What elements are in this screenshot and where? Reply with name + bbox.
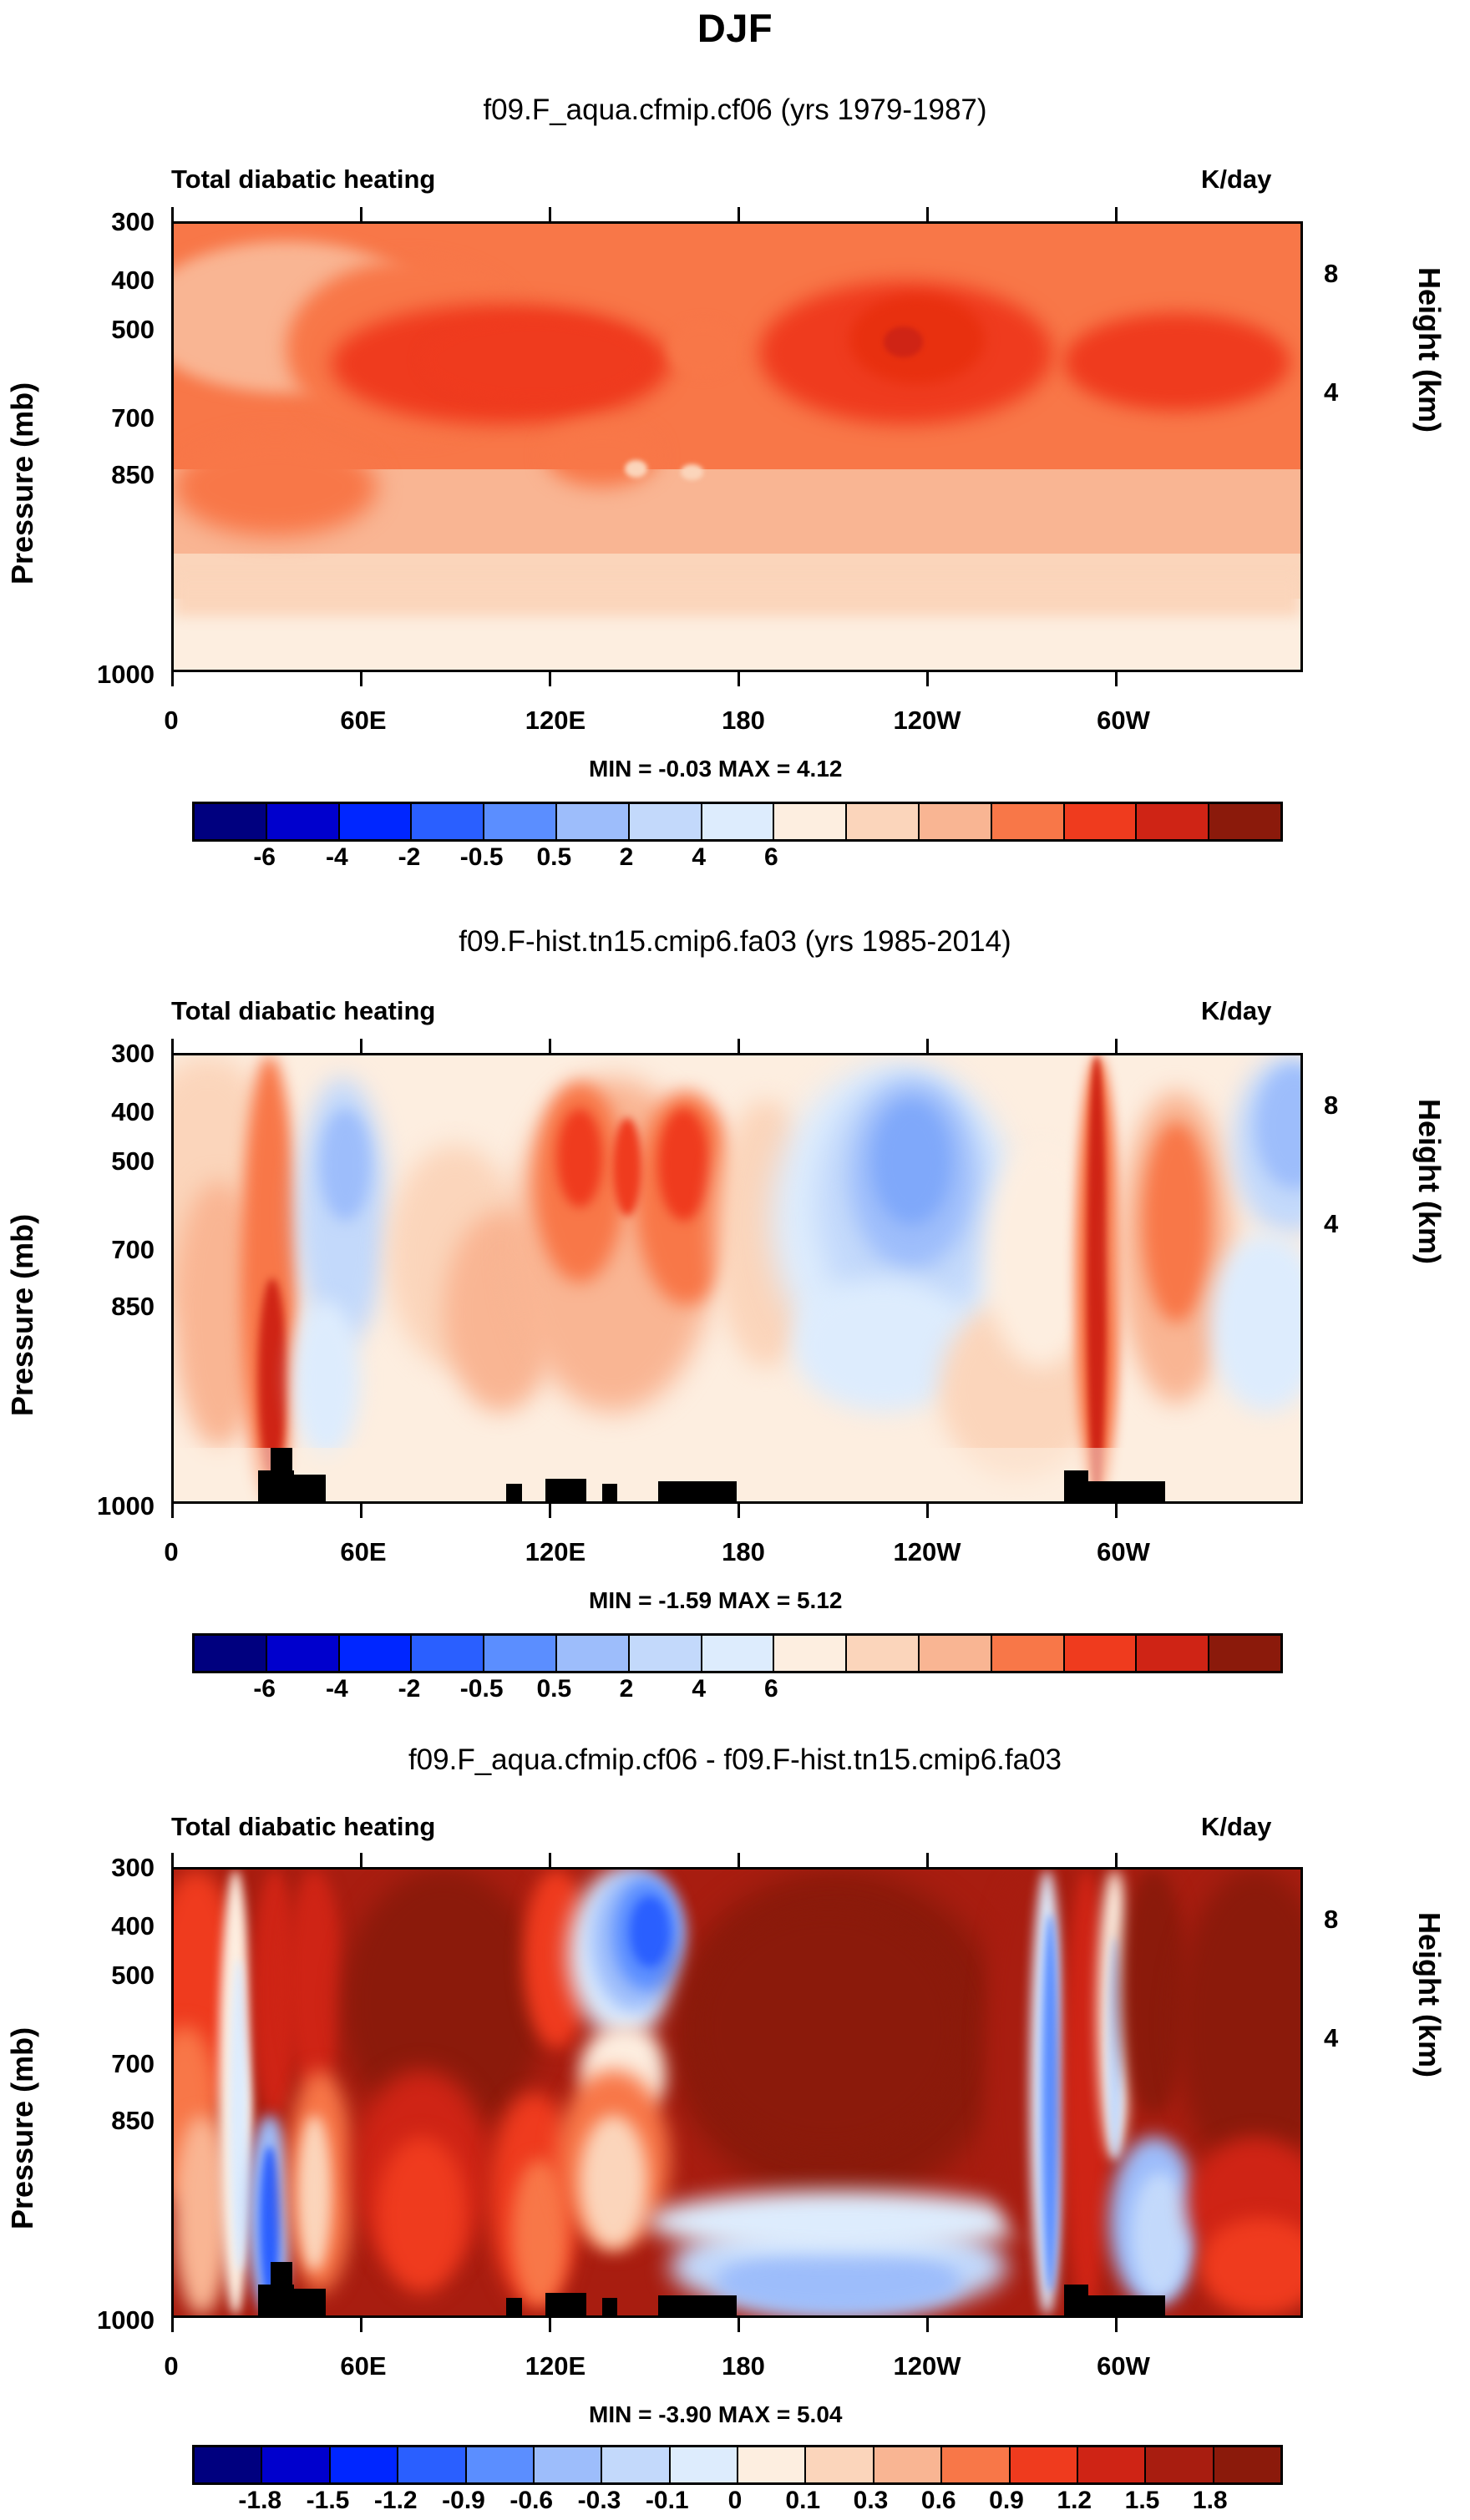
panel-2-plot-area[interactable]: [171, 1053, 1303, 1504]
colorbar-tick-label: 0.9: [989, 2487, 1024, 2515]
panel-1-xtick-120E: 120E: [505, 706, 606, 736]
panel-3-ylabel-right: Height (km): [1412, 1912, 1447, 2213]
panel-3-xtick-120W: 120W: [877, 2351, 977, 2381]
panel-2-ylabel-right: Height (km): [1412, 1099, 1447, 1399]
panel-2: f09.F-hist.tn15.cmip6.fa03 (yrs 1985-201…: [0, 852, 1470, 1720]
panel-2-ytick-400: 400: [50, 1097, 155, 1127]
colorbar-tick-label: 4: [692, 1675, 706, 1703]
panel-3-ytick-right-4: 4: [1324, 2023, 1338, 2053]
colorbar-tick-label: -0.5: [460, 1675, 504, 1703]
panel-3-ylabel-left: Pressure (mb): [5, 1912, 40, 2229]
colorbar-cell: [1209, 1636, 1280, 1671]
colorbar-cell: [467, 2447, 535, 2482]
panel-1-ytick-right-8: 8: [1324, 259, 1338, 289]
colorbar-cell: [195, 2447, 262, 2482]
colorbar-cell: [1137, 1636, 1209, 1671]
colorbar-cell: [557, 804, 630, 839]
colorbar-cell: [412, 1636, 484, 1671]
colorbar-cell: [267, 804, 340, 839]
panel-1-contour-field: [174, 224, 1300, 670]
colorbar-cell: [1078, 2447, 1146, 2482]
colorbar-cell: [920, 1636, 992, 1671]
colorbar-cell: [340, 804, 413, 839]
panel-1-ytick-700: 700: [50, 403, 155, 433]
colorbar-tick-label: 0.3: [854, 2487, 889, 2515]
panel-2-xtick-60E: 60E: [322, 1537, 405, 1567]
panel-2-ytick-700: 700: [50, 1235, 155, 1265]
colorbar-tick-label: 0.1: [785, 2487, 820, 2515]
panel-3-ytick-400: 400: [50, 1911, 155, 1941]
colorbar-cell: [557, 1636, 630, 1671]
panel-2-ytick-right-4: 4: [1324, 1209, 1338, 1239]
panel-1-xtick-60W: 60W: [1077, 706, 1169, 736]
colorbar-tick-label: 0.5: [536, 1675, 571, 1703]
panel-1: f09.F_aqua.cfmip.cf06 (yrs 1979-1987) To…: [0, 0, 1470, 868]
panel-1-ylabel-left: Pressure (mb): [5, 267, 40, 584]
panel-3-ytick-1000: 1000: [38, 2305, 155, 2335]
panel-2-xtick-0: 0: [138, 1537, 205, 1567]
colorbar-cell: [1011, 2447, 1078, 2482]
colorbar-cell: [806, 2447, 874, 2482]
panel-3-ytick-850: 850: [50, 2106, 155, 2136]
colorbar-tick-label: -1.8: [238, 2487, 281, 2515]
panel-2-label-right: K/day: [1201, 996, 1271, 1026]
colorbar-cell: [992, 804, 1065, 839]
colorbar-cell: [992, 1636, 1065, 1671]
panel-2-minmax: MIN = -1.59 MAX = 5.12: [589, 1587, 842, 1614]
colorbar-cell: [942, 2447, 1010, 2482]
panel-1-xtick-120W: 120W: [877, 706, 977, 736]
colorbar-panel-3[interactable]: [192, 2445, 1283, 2485]
colorbar-tick-label: -1.5: [307, 2487, 350, 2515]
panel-1-minmax: MIN = -0.03 MAX = 4.12: [589, 756, 842, 782]
colorbar-tick-label: -6: [253, 1675, 276, 1703]
panel-2-xtick-180: 180: [702, 1537, 785, 1567]
colorbar-tick-label: 0: [728, 2487, 743, 2515]
panel-2-title: f09.F-hist.tn15.cmip6.fa03 (yrs 1985-201…: [0, 925, 1470, 959]
panel-1-plot-area[interactable]: [171, 221, 1303, 672]
panel-1-label-left: Total diabatic heating: [171, 164, 435, 195]
panel-3-ytick-300: 300: [50, 1853, 155, 1883]
panel-2-xtick-60W: 60W: [1077, 1537, 1169, 1567]
panel-3-label-left: Total diabatic heating: [171, 1812, 435, 1842]
colorbar-tick-label: -0.3: [578, 2487, 621, 2515]
panel-3: f09.F_aqua.cfmip.cf06 - f09.F-hist.tn15.…: [0, 1703, 1470, 2484]
colorbar-cell: [195, 804, 267, 839]
colorbar-tick-label: -0.1: [646, 2487, 689, 2515]
colorbar-cell: [847, 804, 920, 839]
panel-3-minmax: MIN = -3.90 MAX = 5.04: [589, 2401, 842, 2428]
panel-3-xtick-180: 180: [702, 2351, 785, 2381]
panel-3-ytick-right-8: 8: [1324, 1905, 1338, 1935]
colorbar-cell: [602, 2447, 670, 2482]
colorbar-cell: [702, 804, 775, 839]
colorbar-tick-label: -0.9: [442, 2487, 485, 2515]
colorbar-tick-label: 1.2: [1057, 2487, 1092, 2515]
panel-3-ytick-700: 700: [50, 2049, 155, 2079]
colorbar-panel-2[interactable]: [192, 1633, 1283, 1673]
panel-1-ylabel-right: Height (km): [1412, 267, 1447, 568]
colorbar-cell: [484, 1636, 557, 1671]
colorbar-panel-1[interactable]: [192, 802, 1283, 842]
colorbar-cell: [1137, 804, 1209, 839]
colorbar-cell: [630, 804, 702, 839]
colorbar-cell: [340, 1636, 413, 1671]
colorbar-cell: [874, 2447, 942, 2482]
colorbar-tick-label: -0.6: [509, 2487, 553, 2515]
colorbar-cell: [671, 2447, 738, 2482]
panel-1-ytick-300: 300: [50, 207, 155, 237]
panel-3-plot-area[interactable]: [171, 1867, 1303, 2318]
panel-2-xtick-120E: 120E: [505, 1537, 606, 1567]
panel-2-ytick-1000: 1000: [38, 1491, 155, 1521]
colorbar-cell: [847, 1636, 920, 1671]
panel-3-title: f09.F_aqua.cfmip.cf06 - f09.F-hist.tn15.…: [0, 1743, 1470, 1777]
colorbar-cell: [262, 2447, 330, 2482]
panel-1-title: f09.F_aqua.cfmip.cf06 (yrs 1979-1987): [0, 94, 1470, 127]
colorbar-cell: [1214, 2447, 1280, 2482]
panel-1-ytick-right-4: 4: [1324, 377, 1338, 407]
colorbar-cell: [1065, 804, 1138, 839]
panel-1-ytick-500: 500: [50, 315, 155, 345]
colorbar-cell: [267, 1636, 340, 1671]
colorbar-cell: [398, 2447, 466, 2482]
colorbar-tick-label: 1.8: [1193, 2487, 1228, 2515]
colorbar-cell: [774, 1636, 847, 1671]
colorbar-cell: [630, 1636, 702, 1671]
colorbar-tick-label: 2: [620, 1675, 634, 1703]
panel-2-ytick-500: 500: [50, 1146, 155, 1177]
panel-1-ytick-400: 400: [50, 266, 155, 296]
panel-2-label-left: Total diabatic heating: [171, 996, 435, 1026]
panel-2-ytick-right-8: 8: [1324, 1090, 1338, 1121]
colorbar-cell: [484, 804, 557, 839]
panel-2-ytick-300: 300: [50, 1039, 155, 1069]
colorbar-cell: [195, 1636, 267, 1671]
colorbar-cell: [702, 1636, 775, 1671]
colorbar-cell: [774, 804, 847, 839]
colorbar-cell: [412, 804, 484, 839]
panel-3-label-right: K/day: [1201, 1812, 1271, 1842]
colorbar-tick-label: -1.2: [374, 2487, 418, 2515]
panel-2-xtick-120W: 120W: [877, 1537, 977, 1567]
panel-3-contour-field: [174, 1870, 1300, 2315]
colorbar-cell: [1065, 1636, 1138, 1671]
panel-3-ytick-500: 500: [50, 1961, 155, 1991]
panel-1-xtick-60E: 60E: [322, 706, 405, 736]
panel-2-contour-field: [174, 1055, 1300, 1501]
panel-3-xtick-60W: 60W: [1077, 2351, 1169, 2381]
colorbar-cell: [535, 2447, 602, 2482]
panel-3-xtick-0: 0: [138, 2351, 205, 2381]
panel-3-xtick-60E: 60E: [322, 2351, 405, 2381]
colorbar-tick-label: -2: [398, 1675, 421, 1703]
colorbar-cell: [920, 804, 992, 839]
colorbar-cell: [1209, 804, 1280, 839]
panel-2-ylabel-left: Pressure (mb): [5, 1099, 40, 1416]
colorbar-tick-label: 0.6: [921, 2487, 956, 2515]
colorbar-cell: [331, 2447, 398, 2482]
colorbar-panel-3-labels: -1.8-1.5-1.2-0.9-0.6-0.3-0.100.10.30.60.…: [192, 2487, 1278, 2520]
panel-2-ytick-850: 850: [50, 1292, 155, 1322]
colorbar-tick-label: 1.5: [1125, 2487, 1160, 2515]
colorbar-cell: [738, 2447, 806, 2482]
panel-1-ytick-850: 850: [50, 460, 155, 490]
panel-3-xtick-120E: 120E: [505, 2351, 606, 2381]
panel-1-xtick-180: 180: [702, 706, 785, 736]
colorbar-tick-label: -4: [326, 1675, 348, 1703]
colorbar-cell: [1146, 2447, 1214, 2482]
panel-1-xtick-0: 0: [138, 706, 205, 736]
colorbar-tick-label: 6: [764, 1675, 778, 1703]
panel-1-label-right: K/day: [1201, 164, 1271, 195]
panel-1-ytick-1000: 1000: [38, 660, 155, 690]
